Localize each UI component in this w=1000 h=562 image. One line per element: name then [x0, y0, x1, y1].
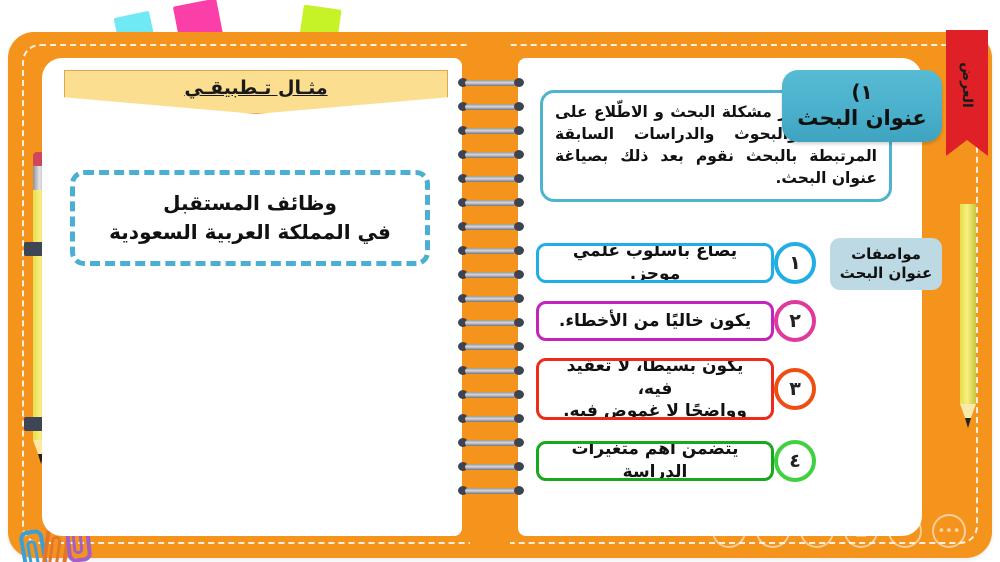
spiral-ring-knob	[514, 366, 524, 375]
spiral-ring-knob	[514, 294, 524, 303]
spiral-ring	[458, 246, 524, 255]
pencil-tip-lead	[965, 418, 971, 428]
item-box: يكون بسيطًا، لا تعقيد فيه، وواضحًا لا غم…	[536, 358, 774, 420]
spiral-ring-bar	[465, 176, 517, 182]
spiral-ring-knob	[514, 342, 524, 351]
spiral-ring-bar	[465, 104, 517, 110]
item-box: يكون خاليًا من الأخطاء.	[536, 301, 774, 341]
item-box: يصاغ بأسلوب علمي موجز.	[536, 243, 774, 283]
spiral-ring	[458, 126, 524, 135]
spiral-ring-bar	[465, 416, 517, 422]
spiral-ring	[458, 462, 524, 471]
spiral-ring	[458, 366, 524, 375]
right-pencil-icon	[960, 204, 976, 428]
spiral-ring-bar	[465, 128, 517, 134]
spiral-ring-bar	[465, 80, 517, 86]
spiral-ring-knob	[514, 126, 524, 135]
spiral-ring-bar	[465, 368, 517, 374]
spiral-ring-knob	[514, 486, 524, 495]
presentation-slide: ••• ⌕ ▣ ✎ ◀ ▶ مثـال تـطبي	[0, 0, 1000, 562]
item-text: يصاغ بأسلوب علمي موجز.	[549, 243, 761, 283]
spiral-ring	[458, 270, 524, 279]
spiral-ring-bar	[465, 152, 517, 158]
spiral-ring-bar	[465, 224, 517, 230]
spiral-binding	[458, 78, 524, 510]
item-text: يتضمن أهم متغيرات الدراسة	[549, 441, 761, 481]
spiral-ring-bar	[465, 488, 517, 494]
item-number-badge: ٤	[774, 440, 816, 482]
section-name: عنوان البحث	[797, 105, 927, 131]
spiral-ring	[458, 414, 524, 423]
spiral-ring-knob	[514, 222, 524, 231]
spiral-ring	[458, 102, 524, 111]
item-number-badge: ٢	[774, 300, 816, 342]
spiral-ring-bar	[465, 320, 517, 326]
applied-example-banner: مثـال تـطبيقـي	[64, 70, 448, 114]
specs-label-line-1: مواصفات	[851, 245, 921, 265]
spiral-ring	[458, 222, 524, 231]
item-text: يكون بسيطًا، لا تعقيد فيه، وواضحًا لا غم…	[549, 358, 761, 420]
spiral-ring-knob	[514, 438, 524, 447]
spiral-ring-bar	[465, 464, 517, 470]
spiral-ring-knob	[514, 102, 524, 111]
topic-line-1: وظائف المستقبل	[163, 189, 337, 218]
item-box: يتضمن أهم متغيرات الدراسة	[536, 441, 774, 481]
left-page: مثـال تـطبيقـي وظائف المستقبل في المملكة…	[42, 58, 462, 536]
spiral-ring	[458, 438, 524, 447]
spiral-ring	[458, 342, 524, 351]
pencil-body	[960, 204, 976, 404]
specs-label: مواصفات عنوان البحث	[830, 238, 942, 290]
topic-dashed-box: وظائف المستقبل في المملكة العربية السعود…	[70, 170, 430, 266]
spiral-ring-knob	[514, 390, 524, 399]
ribbon-label: العرض	[959, 62, 975, 108]
banner-title: مثـال تـطبيقـي	[184, 77, 327, 99]
spiral-ring	[458, 390, 524, 399]
spiral-ring	[458, 198, 524, 207]
bookmark-ribbon[interactable]: العرض	[946, 30, 988, 140]
spiral-ring-knob	[514, 270, 524, 279]
section-number: ١)	[851, 80, 872, 105]
spiral-ring	[458, 318, 524, 327]
spiral-ring-bar	[465, 392, 517, 398]
spiral-ring-bar	[465, 296, 517, 302]
item-number-badge: ٣	[774, 368, 816, 410]
spiral-ring-knob	[514, 198, 524, 207]
more-icon[interactable]: •••	[932, 514, 966, 548]
spiral-ring-knob	[514, 318, 524, 327]
spiral-ring	[458, 150, 524, 159]
spiral-ring	[458, 78, 524, 87]
spiral-ring	[458, 294, 524, 303]
spiral-ring-knob	[514, 78, 524, 87]
list-item: ٢ يكون خاليًا من الأخطاء.	[536, 300, 808, 342]
spiral-ring-knob	[514, 462, 524, 471]
item-text: يكون خاليًا من الأخطاء.	[559, 310, 751, 333]
spiral-ring	[458, 486, 524, 495]
spiral-ring	[458, 174, 524, 183]
spiral-ring-bar	[465, 344, 517, 350]
list-item: ٤ يتضمن أهم متغيرات الدراسة	[536, 440, 808, 482]
spiral-ring-bar	[465, 248, 517, 254]
spiral-ring-knob	[514, 414, 524, 423]
list-item: ١ يصاغ بأسلوب علمي موجز.	[536, 242, 808, 284]
section-title-pill: ١) عنوان البحث	[782, 70, 942, 142]
list-item: ٣ يكون بسيطًا، لا تعقيد فيه، وواضحًا لا …	[536, 358, 808, 420]
right-page: بعد أن اختيار مشكلة البحث و الاطّلاع على…	[518, 58, 922, 536]
topic-line-2: في المملكة العربية السعودية	[109, 218, 391, 247]
spiral-ring-knob	[514, 150, 524, 159]
spiral-ring-bar	[465, 200, 517, 206]
specs-label-line-2: عنوان البحث	[840, 264, 933, 284]
spiral-ring-bar	[465, 272, 517, 278]
spiral-ring-knob	[514, 174, 524, 183]
spiral-ring-knob	[514, 246, 524, 255]
item-number-badge: ١	[774, 242, 816, 284]
spiral-ring-bar	[465, 440, 517, 446]
